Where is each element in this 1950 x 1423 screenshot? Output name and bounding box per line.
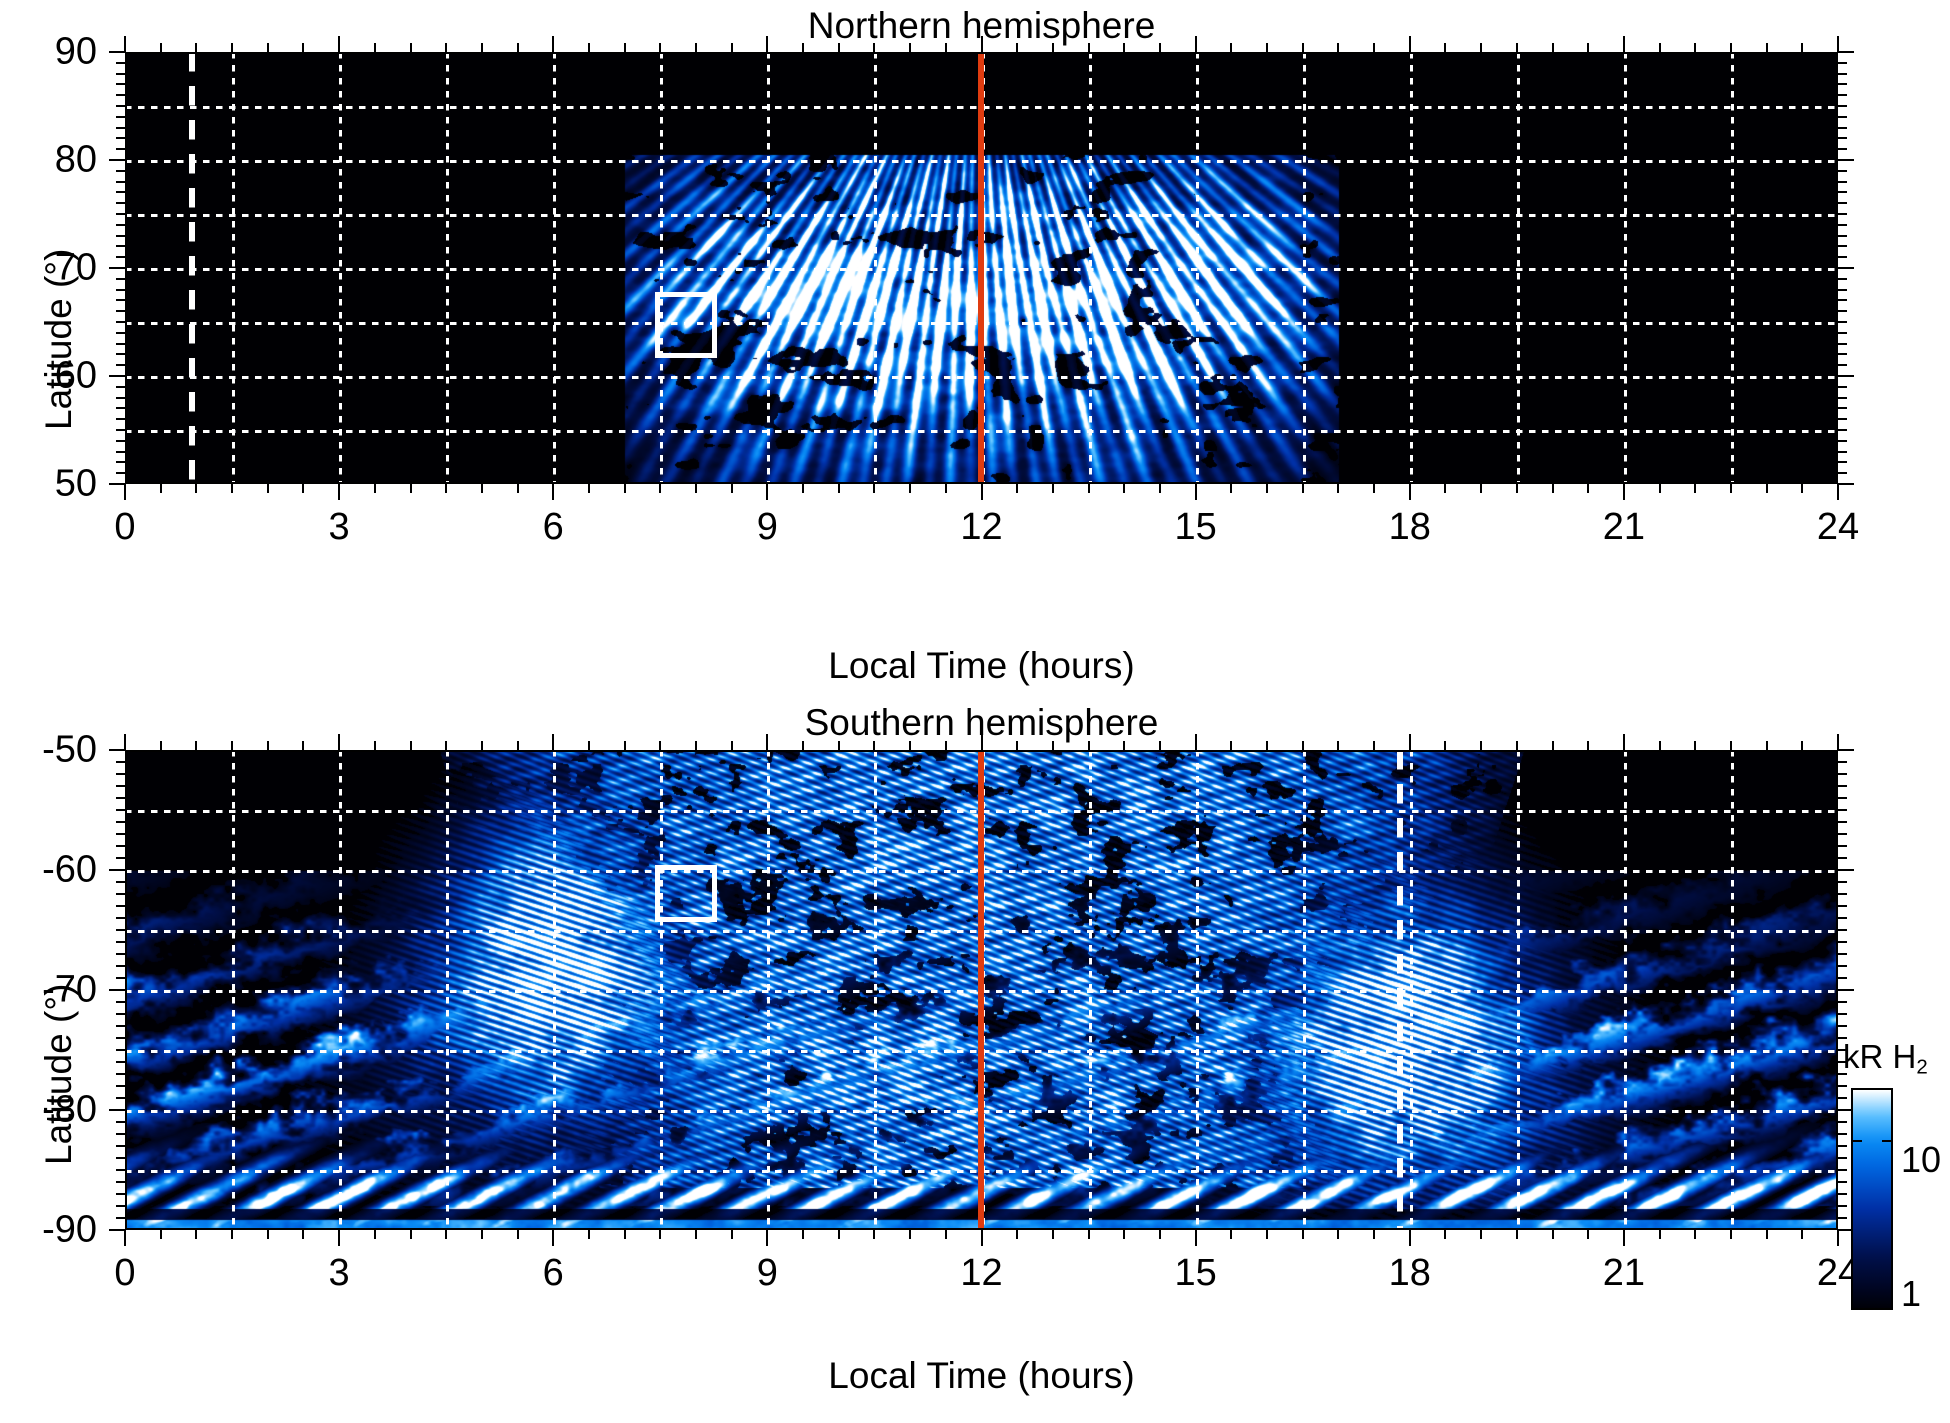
x-tick-minor: [231, 741, 233, 750]
y-tick-minor: [116, 1181, 125, 1183]
x-tick-minor: [302, 1230, 304, 1239]
x-tick-major: [1623, 36, 1625, 52]
x-tick-label: 24: [1817, 506, 1859, 549]
x-tick-minor: [517, 741, 519, 750]
x-tick-minor: [1373, 741, 1375, 750]
x-tick-label: 3: [329, 1252, 350, 1295]
y-tick-minor: [116, 299, 125, 301]
figure-root: Northern hemisphere Latitude (°) Local T…: [0, 0, 1950, 1423]
y-tick-minor: [116, 1037, 125, 1039]
x-tick-minor: [302, 741, 304, 750]
y-tick-minor: [116, 343, 125, 345]
y-tick-minor: [1838, 881, 1847, 883]
y-tick-minor: [116, 977, 125, 979]
x-tick-minor: [1587, 484, 1589, 493]
y-tick-minor: [116, 881, 125, 883]
x-tick-minor: [1266, 741, 1268, 750]
y-tick-minor: [1838, 245, 1847, 247]
y-tick-major: [1838, 989, 1854, 991]
x-tick-minor: [1159, 43, 1161, 52]
y-tick-minor: [1838, 809, 1847, 811]
y-tick-major: [1838, 51, 1854, 53]
x-tick-minor: [1516, 741, 1518, 750]
x-tick-minor: [1088, 1230, 1090, 1239]
y-tick-minor: [1838, 116, 1847, 118]
x-tick-minor: [374, 741, 376, 750]
y-tick-minor: [116, 289, 125, 291]
x-tick-minor: [160, 484, 162, 493]
y-tick-minor: [1838, 224, 1847, 226]
y-tick-minor: [116, 191, 125, 193]
x-tick-minor: [1088, 484, 1090, 493]
y-tick-minor: [1838, 62, 1847, 64]
x-tick-minor: [1659, 43, 1661, 52]
x-tick-minor: [1694, 741, 1696, 750]
x-tick-major: [124, 734, 126, 750]
y-tick-minor: [116, 1073, 125, 1075]
y-tick-minor: [116, 62, 125, 64]
y-tick-minor: [116, 148, 125, 150]
x-tick-minor: [1373, 1230, 1375, 1239]
y-tick-minor: [116, 1061, 125, 1063]
y-tick-minor: [116, 94, 125, 96]
northern-reference-meridian-line: [189, 52, 195, 484]
y-tick-minor: [1838, 1157, 1847, 1159]
x-tick-minor: [1730, 43, 1732, 52]
y-tick-minor: [1838, 332, 1847, 334]
x-tick-major: [1837, 1230, 1839, 1246]
y-tick-minor: [1838, 1025, 1847, 1027]
x-tick-minor: [1266, 484, 1268, 493]
x-tick-minor: [1373, 43, 1375, 52]
x-tick-minor: [1266, 43, 1268, 52]
x-tick-minor: [802, 741, 804, 750]
x-tick-minor: [1552, 43, 1554, 52]
x-tick-major: [1409, 734, 1411, 750]
y-tick-minor: [1838, 73, 1847, 75]
y-tick-minor: [1838, 785, 1847, 787]
y-tick-minor: [116, 761, 125, 763]
y-tick-minor: [116, 353, 125, 355]
x-tick-minor: [481, 1230, 483, 1239]
x-tick-minor: [659, 741, 661, 750]
colorbar: [1851, 1088, 1893, 1310]
x-tick-major: [338, 36, 340, 52]
x-tick-minor: [873, 43, 875, 52]
y-tick-minor: [116, 213, 125, 215]
y-tick-minor: [1838, 137, 1847, 139]
x-tick-minor: [445, 1230, 447, 1239]
x-tick-label: 18: [1389, 506, 1431, 549]
x-tick-major: [1195, 36, 1197, 52]
x-tick-minor: [445, 741, 447, 750]
x-tick-minor: [195, 741, 197, 750]
y-tick-minor: [1838, 461, 1847, 463]
y-tick-minor: [1838, 857, 1847, 859]
x-tick-label: 18: [1389, 1252, 1431, 1295]
y-tick-minor: [116, 1121, 125, 1123]
x-tick-major: [1409, 1230, 1411, 1246]
y-tick-label: 70: [0, 247, 97, 290]
y-tick-minor: [116, 83, 125, 85]
x-tick-minor: [945, 1230, 947, 1239]
y-tick-minor: [116, 278, 125, 280]
x-tick-major: [1623, 1230, 1625, 1246]
y-tick-minor: [116, 953, 125, 955]
x-tick-minor: [410, 484, 412, 493]
y-tick-major: [1838, 159, 1854, 161]
y-tick-minor: [116, 332, 125, 334]
x-tick-minor: [909, 741, 911, 750]
x-tick-major: [1195, 734, 1197, 750]
y-tick-minor: [1838, 353, 1847, 355]
y-tick-major: [109, 267, 125, 269]
x-tick-minor: [1480, 741, 1482, 750]
y-tick-label: -90: [0, 1209, 97, 1252]
y-tick-minor: [1838, 278, 1847, 280]
x-tick-minor: [1123, 741, 1125, 750]
y-tick-minor: [116, 451, 125, 453]
y-tick-minor: [116, 1025, 125, 1027]
y-tick-minor: [1838, 235, 1847, 237]
y-tick-minor: [116, 785, 125, 787]
y-tick-minor: [1838, 1205, 1847, 1207]
y-tick-minor: [1838, 310, 1847, 312]
x-tick-minor: [1123, 43, 1125, 52]
y-tick-minor: [1838, 1145, 1847, 1147]
x-tick-minor: [160, 741, 162, 750]
x-tick-minor: [267, 43, 269, 52]
x-tick-major: [1623, 484, 1625, 500]
x-tick-minor: [517, 484, 519, 493]
y-tick-minor: [116, 821, 125, 823]
x-tick-major: [766, 734, 768, 750]
x-tick-minor: [1444, 484, 1446, 493]
x-tick-minor: [267, 484, 269, 493]
x-tick-minor: [1337, 484, 1339, 493]
x-tick-label: 15: [1174, 1252, 1216, 1295]
x-tick-minor: [1088, 43, 1090, 52]
y-tick-minor: [116, 105, 125, 107]
y-tick-minor: [1838, 1001, 1847, 1003]
panel-southern: Southern hemisphere Latitude (°) Local T…: [0, 700, 1950, 1423]
x-tick-minor: [517, 43, 519, 52]
x-tick-minor: [1766, 741, 1768, 750]
x-tick-minor: [1230, 1230, 1232, 1239]
x-tick-major: [338, 1230, 340, 1246]
x-tick-minor: [302, 43, 304, 52]
y-tick-minor: [1838, 440, 1847, 442]
x-tick-minor: [1444, 1230, 1446, 1239]
y-tick-minor: [116, 127, 125, 129]
y-tick-major: [109, 869, 125, 871]
x-tick-minor: [624, 741, 626, 750]
y-tick-minor: [1838, 451, 1847, 453]
y-tick-minor: [1838, 941, 1847, 943]
x-tick-minor: [1337, 43, 1339, 52]
x-tick-minor: [1337, 1230, 1339, 1239]
x-tick-minor: [1694, 484, 1696, 493]
x-tick-minor: [481, 484, 483, 493]
y-tick-minor: [1838, 181, 1847, 183]
x-tick-major: [981, 1230, 983, 1246]
y-tick-minor: [116, 181, 125, 183]
y-tick-minor: [1838, 256, 1847, 258]
x-tick-minor: [695, 484, 697, 493]
y-tick-minor: [116, 1205, 125, 1207]
y-tick-minor: [1838, 977, 1847, 979]
y-tick-label: 60: [0, 355, 97, 398]
x-tick-minor: [873, 484, 875, 493]
southern-roi-box[interactable]: [655, 865, 717, 922]
x-tick-major: [552, 36, 554, 52]
southern-plot-area[interactable]: [125, 750, 1838, 1230]
y-tick-minor: [1838, 418, 1847, 420]
y-tick-minor: [116, 235, 125, 237]
x-tick-minor: [1480, 1230, 1482, 1239]
y-tick-minor: [1838, 105, 1847, 107]
x-tick-label: 9: [757, 506, 778, 549]
x-tick-minor: [909, 484, 911, 493]
x-tick-minor: [1373, 484, 1375, 493]
x-tick-minor: [195, 1230, 197, 1239]
y-tick-minor: [1838, 94, 1847, 96]
y-tick-minor: [116, 116, 125, 118]
x-tick-major: [338, 484, 340, 500]
x-tick-minor: [481, 741, 483, 750]
x-tick-minor: [1016, 1230, 1018, 1239]
x-tick-major: [338, 734, 340, 750]
x-tick-minor: [624, 43, 626, 52]
x-tick-major: [981, 36, 983, 52]
x-tick-minor: [659, 484, 661, 493]
colorbar-tick-mark: [1882, 1140, 1891, 1142]
x-tick-minor: [1230, 741, 1232, 750]
y-tick-major: [1838, 375, 1854, 377]
y-tick-label: -70: [0, 969, 97, 1012]
colorbar-title-sub: 2: [1916, 1056, 1927, 1079]
x-tick-major: [1195, 1230, 1197, 1246]
x-tick-minor: [1266, 1230, 1268, 1239]
x-tick-minor: [731, 484, 733, 493]
y-tick-minor: [1838, 1013, 1847, 1015]
y-tick-label: -60: [0, 849, 97, 892]
x-tick-minor: [1730, 741, 1732, 750]
x-tick-minor: [838, 741, 840, 750]
x-tick-label: 9: [757, 1252, 778, 1295]
x-tick-minor: [588, 741, 590, 750]
x-tick-minor: [410, 43, 412, 52]
x-tick-minor: [445, 484, 447, 493]
x-tick-minor: [231, 1230, 233, 1239]
x-tick-major: [981, 484, 983, 500]
y-tick-minor: [116, 364, 125, 366]
x-tick-minor: [1730, 484, 1732, 493]
x-tick-label: 12: [960, 1252, 1002, 1295]
y-tick-label: 90: [0, 31, 97, 74]
y-tick-minor: [116, 809, 125, 811]
y-tick-minor: [116, 170, 125, 172]
y-tick-minor: [1838, 407, 1847, 409]
y-tick-major: [109, 483, 125, 485]
x-tick-minor: [267, 1230, 269, 1239]
x-tick-minor: [1694, 43, 1696, 52]
x-tick-minor: [873, 1230, 875, 1239]
y-tick-minor: [116, 941, 125, 943]
y-tick-minor: [1838, 845, 1847, 847]
y-tick-major: [1838, 267, 1854, 269]
x-tick-major: [1195, 484, 1197, 500]
x-tick-label: 12: [960, 506, 1002, 549]
x-tick-minor: [624, 484, 626, 493]
x-tick-minor: [588, 484, 590, 493]
x-tick-minor: [1801, 484, 1803, 493]
x-tick-minor: [1159, 484, 1161, 493]
x-tick-minor: [1730, 1230, 1732, 1239]
northern-plot-area[interactable]: [125, 52, 1838, 484]
y-tick-major: [109, 375, 125, 377]
y-tick-minor: [1838, 429, 1847, 431]
x-tick-minor: [1337, 741, 1339, 750]
x-tick-minor: [1444, 741, 1446, 750]
y-tick-label: -50: [0, 729, 97, 772]
x-tick-minor: [802, 43, 804, 52]
x-tick-major: [124, 36, 126, 52]
x-tick-minor: [802, 1230, 804, 1239]
x-tick-label: 21: [1603, 1252, 1645, 1295]
x-tick-minor: [1552, 1230, 1554, 1239]
y-tick-minor: [116, 893, 125, 895]
x-tick-minor: [231, 484, 233, 493]
y-tick-minor: [1838, 1097, 1847, 1099]
x-tick-minor: [1587, 1230, 1589, 1239]
x-tick-minor: [1052, 484, 1054, 493]
y-tick-minor: [1838, 833, 1847, 835]
x-tick-label: 6: [543, 1252, 564, 1295]
x-tick-minor: [695, 1230, 697, 1239]
x-tick-minor: [838, 484, 840, 493]
colorbar-title: kR H2: [1843, 1038, 1928, 1080]
y-tick-minor: [1838, 953, 1847, 955]
x-tick-minor: [1016, 741, 1018, 750]
y-tick-minor: [1838, 1169, 1847, 1171]
x-tick-major: [766, 484, 768, 500]
x-tick-minor: [481, 43, 483, 52]
x-tick-minor: [873, 741, 875, 750]
x-tick-minor: [1302, 1230, 1304, 1239]
y-tick-minor: [1838, 202, 1847, 204]
x-tick-minor: [160, 1230, 162, 1239]
x-tick-minor: [659, 43, 661, 52]
x-tick-minor: [1766, 484, 1768, 493]
x-tick-minor: [1302, 484, 1304, 493]
y-tick-minor: [116, 773, 125, 775]
y-tick-minor: [116, 407, 125, 409]
y-tick-minor: [116, 461, 125, 463]
x-tick-minor: [445, 43, 447, 52]
y-tick-minor: [116, 1145, 125, 1147]
x-tick-label: 21: [1603, 506, 1645, 549]
y-tick-label: -80: [0, 1089, 97, 1132]
x-tick-minor: [1659, 1230, 1661, 1239]
x-tick-label: 0: [114, 506, 135, 549]
y-tick-minor: [1838, 148, 1847, 150]
x-tick-minor: [1444, 43, 1446, 52]
colorbar-title-main: kR H: [1843, 1038, 1916, 1075]
y-tick-major: [109, 989, 125, 991]
y-tick-minor: [1838, 83, 1847, 85]
y-tick-minor: [1838, 386, 1847, 388]
y-tick-minor: [116, 397, 125, 399]
x-tick-minor: [1016, 484, 1018, 493]
y-tick-minor: [116, 429, 125, 431]
y-tick-minor: [1838, 761, 1847, 763]
y-tick-minor: [1838, 299, 1847, 301]
x-tick-minor: [1587, 741, 1589, 750]
y-tick-label: 80: [0, 139, 97, 182]
y-tick-minor: [116, 1217, 125, 1219]
y-tick-minor: [1838, 472, 1847, 474]
y-tick-major: [109, 159, 125, 161]
y-tick-minor: [1838, 1085, 1847, 1087]
x-tick-minor: [695, 43, 697, 52]
x-tick-minor: [410, 1230, 412, 1239]
x-tick-major: [1623, 734, 1625, 750]
x-tick-minor: [1302, 43, 1304, 52]
x-tick-minor: [588, 1230, 590, 1239]
x-tick-major: [766, 36, 768, 52]
x-tick-minor: [1766, 1230, 1768, 1239]
y-tick-minor: [116, 418, 125, 420]
y-tick-minor: [116, 321, 125, 323]
y-tick-minor: [1838, 213, 1847, 215]
x-tick-label: 3: [329, 506, 350, 549]
x-tick-minor: [624, 1230, 626, 1239]
northern-xlabel: Local Time (hours): [125, 645, 1838, 687]
y-tick-minor: [116, 965, 125, 967]
y-tick-major: [109, 51, 125, 53]
y-tick-minor: [116, 1085, 125, 1087]
x-tick-minor: [1052, 1230, 1054, 1239]
x-tick-minor: [1159, 741, 1161, 750]
x-tick-major: [1837, 36, 1839, 52]
y-tick-major: [109, 749, 125, 751]
x-tick-major: [1837, 484, 1839, 500]
x-tick-minor: [731, 43, 733, 52]
x-tick-minor: [1052, 43, 1054, 52]
y-tick-major: [109, 1229, 125, 1231]
y-tick-minor: [116, 905, 125, 907]
y-tick-major: [1838, 869, 1854, 871]
x-tick-label: 15: [1174, 506, 1216, 549]
x-tick-minor: [374, 43, 376, 52]
y-tick-minor: [1838, 1121, 1847, 1123]
x-tick-minor: [1480, 484, 1482, 493]
x-tick-major: [981, 734, 983, 750]
x-tick-minor: [945, 484, 947, 493]
y-tick-minor: [1838, 191, 1847, 193]
y-tick-minor: [116, 1049, 125, 1051]
y-tick-minor: [116, 256, 125, 258]
northern-roi-box[interactable]: [655, 292, 717, 358]
x-tick-major: [1837, 734, 1839, 750]
x-tick-minor: [1801, 43, 1803, 52]
x-tick-minor: [1801, 741, 1803, 750]
y-tick-minor: [116, 137, 125, 139]
x-tick-minor: [302, 484, 304, 493]
y-tick-major: [1838, 749, 1854, 751]
x-tick-minor: [231, 43, 233, 52]
